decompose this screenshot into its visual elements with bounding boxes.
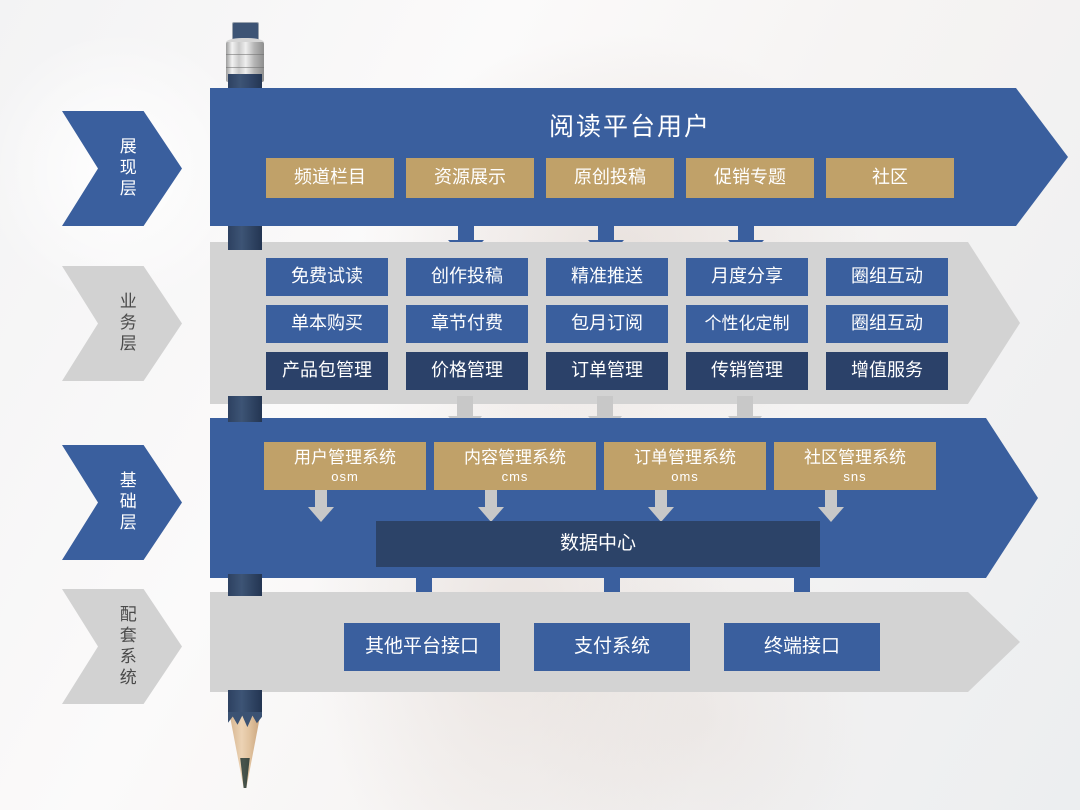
foundation-system-2[interactable]: 订单管理系统 oms [604,442,766,490]
business-item-r2-c3[interactable]: 传销管理 [686,352,808,390]
layer-label-presentation[interactable]: 展现层 [62,111,182,226]
foundation-system-0[interactable]: 用户管理系统 osm [264,442,426,490]
presentation-item-3[interactable]: 促销专题 [686,158,814,198]
supporting-item-0[interactable]: 其他平台接口 [344,623,500,671]
pencil-tip-icon [228,706,262,788]
pencil-body-segment-2 [228,396,262,422]
supporting-item-1[interactable]: 支付系统 [534,623,690,671]
business-item-r0-c0[interactable]: 免费试读 [266,258,388,296]
business-item-r1-c4[interactable]: 圈组互动 [826,305,948,343]
presentation-item-0[interactable]: 频道栏目 [266,158,394,198]
layer-label-presentation-text: 展现层 [116,137,136,200]
supporting-item-2[interactable]: 终端接口 [724,623,880,671]
layer-label-supporting[interactable]: 配套系统 [62,589,182,704]
pencil-body-segment-1 [228,226,262,250]
business-item-r0-c4[interactable]: 圈组互动 [826,258,948,296]
foundation-system-3[interactable]: 社区管理系统 sns [774,442,936,490]
flow-arrow-system-to-datacenter-3 [818,490,844,522]
foundation-system-0-code: osm [331,469,359,484]
pencil-body-segment-3 [228,574,262,596]
foundation-system-2-code: oms [671,469,699,484]
layer-label-business-text: 业务层 [116,292,136,355]
business-item-r1-c1[interactable]: 章节付费 [406,305,528,343]
presentation-item-2[interactable]: 原创投稿 [546,158,674,198]
diagram-canvas: 展现层 阅读平台用户 频道栏目 资源展示 原创投稿 促销专题 社区 业务层 免费… [0,0,1080,810]
business-item-r0-c3[interactable]: 月度分享 [686,258,808,296]
business-item-r2-c2[interactable]: 订单管理 [546,352,668,390]
layer-label-foundation-text: 基础层 [116,471,136,534]
flow-arrow-system-to-datacenter-2 [648,490,674,522]
business-item-r2-c4[interactable]: 增值服务 [826,352,948,390]
page-title: 阅读平台用户 [230,107,1030,143]
presentation-item-1[interactable]: 资源展示 [406,158,534,198]
data-center-box[interactable]: 数据中心 [376,521,820,567]
foundation-system-3-code: sns [843,469,866,484]
business-item-r0-c1[interactable]: 创作投稿 [406,258,528,296]
business-item-r1-c3[interactable]: 个性化定制 [686,305,808,343]
business-item-r2-c0[interactable]: 产品包管理 [266,352,388,390]
flow-arrow-system-to-datacenter-1 [478,490,504,522]
layer-label-business[interactable]: 业务层 [62,266,182,381]
business-item-r0-c2[interactable]: 精准推送 [546,258,668,296]
business-item-r1-c2[interactable]: 包月订阅 [546,305,668,343]
layer-label-foundation[interactable]: 基础层 [62,445,182,560]
business-item-r2-c1[interactable]: 价格管理 [406,352,528,390]
business-item-r1-c0[interactable]: 单本购买 [266,305,388,343]
presentation-item-4[interactable]: 社区 [826,158,954,198]
foundation-system-1-code: cms [502,469,529,484]
pencil-body-segment-4 [228,690,262,712]
foundation-system-1[interactable]: 内容管理系统 cms [434,442,596,490]
layer-label-supporting-text: 配套系统 [116,605,136,689]
flow-arrow-system-to-datacenter-0 [308,490,334,522]
